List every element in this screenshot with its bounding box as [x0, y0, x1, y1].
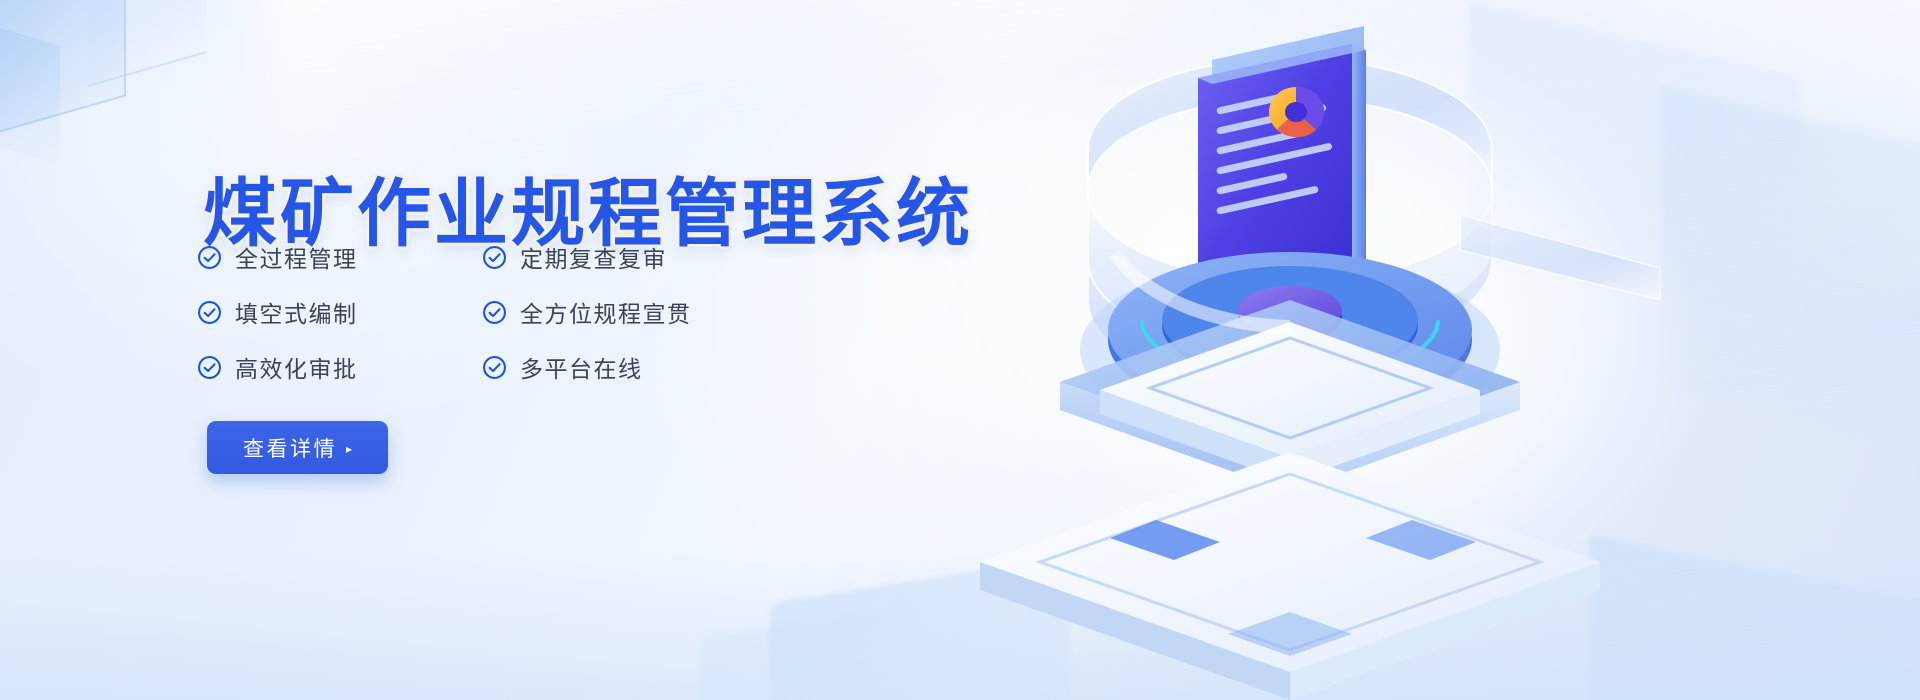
feature-label: 全方位规程宣贯 — [520, 295, 692, 329]
view-details-button[interactable]: 查看详情 ▸ — [207, 421, 388, 474]
feature-item: 全过程管理 — [197, 240, 482, 274]
feature-label: 填空式编制 — [235, 295, 358, 329]
hero-banner: 煤矿作业规程管理系统 全过程管理 定期复查复审 — [0, 0, 1920, 700]
check-circle-icon — [197, 300, 222, 325]
hero-illustration — [960, 0, 1920, 700]
feature-label: 高效化审批 — [235, 350, 358, 384]
check-circle-icon — [197, 355, 222, 380]
feature-label: 全过程管理 — [235, 240, 358, 274]
check-circle-icon — [197, 245, 222, 270]
feature-item: 高效化审批 — [197, 350, 482, 384]
chevron-right-icon: ▸ — [346, 443, 352, 455]
feature-item: 全方位规程宣贯 — [482, 295, 757, 329]
donut-chart-icon — [1269, 87, 1324, 137]
feature-list: 全过程管理 定期复查复审 填空式编制 — [197, 240, 757, 384]
feature-label: 定期复查复审 — [520, 240, 667, 274]
check-circle-icon — [482, 245, 507, 270]
check-circle-icon — [482, 300, 507, 325]
feature-item: 定期复查复审 — [482, 240, 757, 274]
feature-label: 多平台在线 — [520, 350, 643, 384]
banner-content: 煤矿作业规程管理系统 全过程管理 定期复查复审 — [0, 0, 1000, 700]
feature-item: 填空式编制 — [197, 295, 482, 329]
3d-document-analytics-illustration — [960, 0, 1920, 700]
view-details-label: 查看详情 — [243, 433, 337, 463]
feature-item: 多平台在线 — [482, 350, 757, 384]
check-circle-icon — [482, 355, 507, 380]
